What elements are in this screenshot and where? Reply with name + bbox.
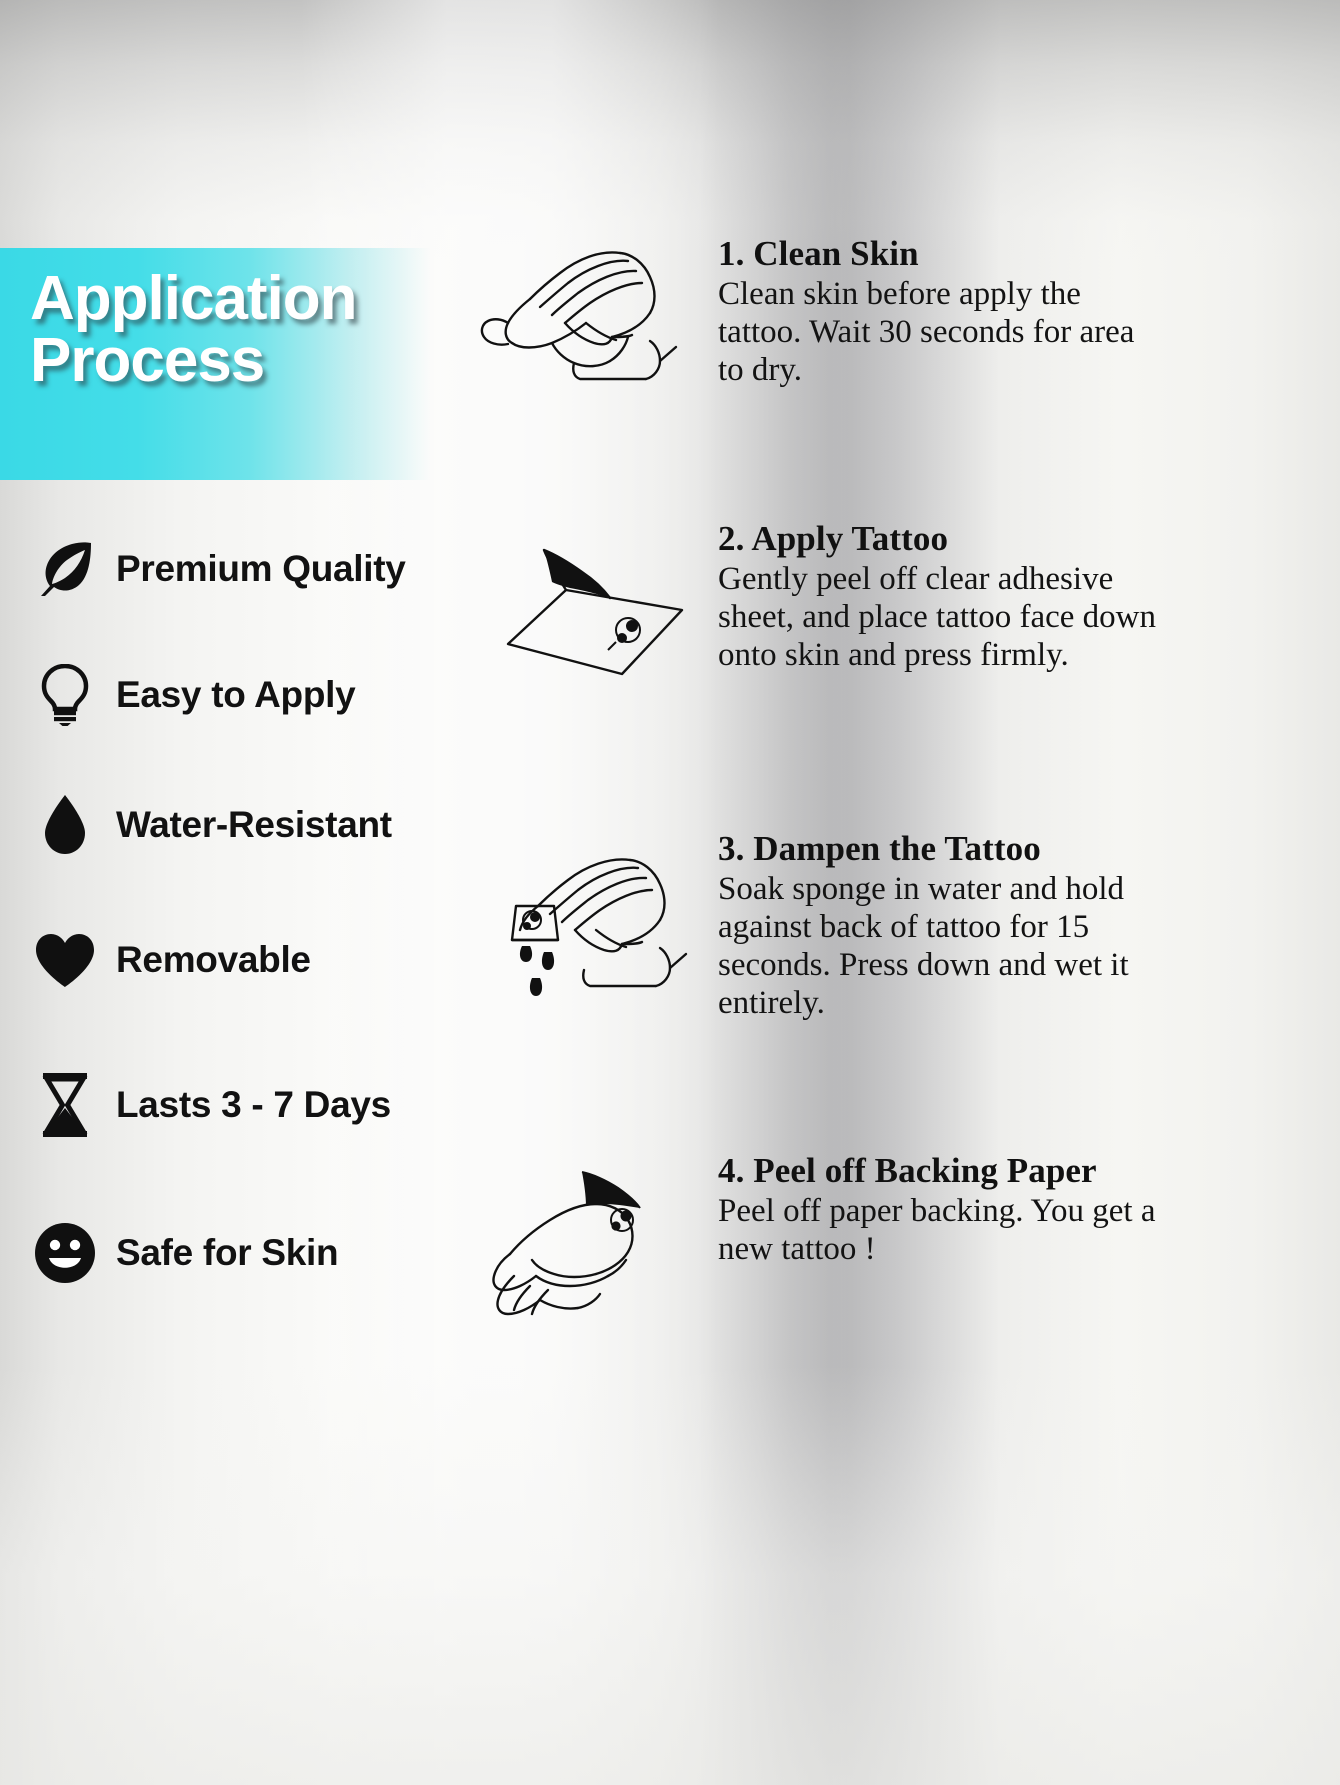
step-heading: 3. Dampen the Tattoo bbox=[718, 830, 1178, 868]
peeling-clear-sheet-illustration bbox=[470, 538, 720, 698]
feature-label: Easy to Apply bbox=[116, 674, 355, 716]
top-gradient-overlay bbox=[0, 0, 1340, 260]
step-body: Clean skin before apply the tattoo. Wait… bbox=[718, 275, 1168, 389]
feature-label: Water-Resistant bbox=[116, 804, 392, 846]
step-3: 3. Dampen the Tattoo Soak sponge in wate… bbox=[450, 830, 1320, 1070]
step-4-text: 4. Peel off Backing Paper Peel off paper… bbox=[718, 1152, 1218, 1268]
wet-sponge-on-hand-illustration bbox=[460, 848, 720, 1028]
hands-wiping-skin-illustration bbox=[460, 245, 720, 385]
step-body: Gently peel off clear adhesive sheet, an… bbox=[718, 560, 1178, 674]
feature-item-lasts-3-7-days: Lasts 3 - 7 Days bbox=[30, 1070, 500, 1140]
infographic-page: Application Process Premium Quality Easy… bbox=[0, 0, 1340, 1785]
feature-label: Premium Quality bbox=[116, 548, 406, 590]
step-2: 2. Apply Tattoo Gently peel off clear ad… bbox=[450, 520, 1320, 730]
lightbulb-icon bbox=[30, 664, 100, 726]
water-drop-icon bbox=[30, 794, 100, 856]
feature-label: Lasts 3 - 7 Days bbox=[116, 1084, 391, 1126]
step-1-text: 1. Clean Skin Clean skin before apply th… bbox=[718, 235, 1168, 389]
step-2-text: 2. Apply Tattoo Gently peel off clear ad… bbox=[718, 520, 1178, 674]
bottom-gradient-overlay bbox=[0, 1365, 1340, 1785]
smiley-icon bbox=[30, 1222, 100, 1284]
heart-icon bbox=[30, 929, 100, 991]
step-1: 1. Clean Skin Clean skin before apply th… bbox=[450, 235, 1320, 405]
page-title-line1: Application bbox=[30, 264, 357, 333]
feature-label: Removable bbox=[116, 939, 311, 981]
feature-item-premium-quality: Premium Quality bbox=[30, 534, 500, 604]
step-3-text: 3. Dampen the Tattoo Soak sponge in wate… bbox=[718, 830, 1178, 1022]
hourglass-icon bbox=[30, 1074, 100, 1136]
feature-item-easy-to-apply: Easy to Apply bbox=[30, 660, 500, 730]
step-4: 4. Peel off Backing Paper Peel off paper… bbox=[450, 1150, 1330, 1340]
peeling-backing-paper-illustration bbox=[470, 1158, 720, 1318]
feature-item-safe-for-skin: Safe for Skin bbox=[30, 1218, 500, 1288]
step-heading: 4. Peel off Backing Paper bbox=[718, 1152, 1218, 1190]
step-body: Soak sponge in water and hold against ba… bbox=[718, 870, 1178, 1022]
step-heading: 1. Clean Skin bbox=[718, 235, 1168, 273]
feature-label: Safe for Skin bbox=[116, 1232, 338, 1274]
step-body: Peel off paper backing. You get a new ta… bbox=[718, 1192, 1218, 1268]
leaf-icon bbox=[30, 538, 100, 600]
feature-item-removable: Removable bbox=[30, 925, 500, 995]
step-heading: 2. Apply Tattoo bbox=[718, 520, 1178, 558]
feature-item-water-resistant: Water-Resistant bbox=[30, 790, 500, 860]
